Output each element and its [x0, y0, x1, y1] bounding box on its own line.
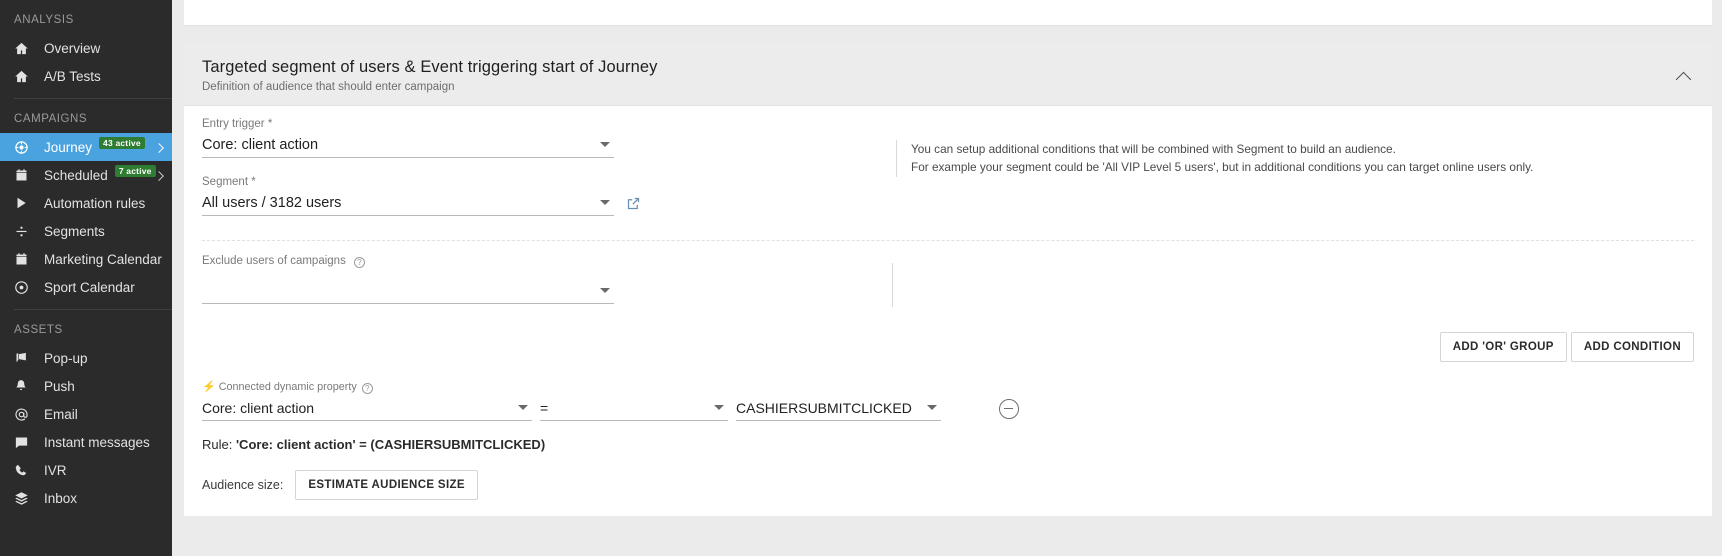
- home-icon: [14, 69, 34, 84]
- entry-trigger-value: Core: client action: [202, 137, 318, 153]
- helper-line-1: You can setup additional conditions that…: [911, 140, 1694, 158]
- card-gap: [184, 26, 1712, 44]
- chevron-down-icon: [600, 288, 610, 293]
- condition-row: ⚡ Connected dynamic property ? Core: cli…: [202, 362, 1694, 421]
- sidebar-item-sport-calendar[interactable]: Sport Calendar: [0, 273, 172, 301]
- add-condition-button[interactable]: ADD CONDITION: [1571, 332, 1694, 362]
- exclude-campaigns-label-text: Exclude users of campaigns: [202, 255, 346, 267]
- help-circle-icon[interactable]: ?: [354, 257, 365, 268]
- segment-label: Segment *: [202, 176, 614, 188]
- sidebar: ANALYSIS Overview A/B Tests CAMPAIGNS Jo…: [0, 0, 172, 556]
- sidebar-item-ab-tests[interactable]: A/B Tests: [0, 62, 172, 90]
- condition-operator-select[interactable]: =: [540, 396, 728, 421]
- entry-trigger-select[interactable]: Core: client action: [202, 133, 614, 158]
- card-subtitle: Definition of audience that should enter…: [202, 81, 1694, 93]
- help-circle-icon[interactable]: ?: [362, 383, 373, 394]
- sms-bubble-icon: [14, 435, 34, 450]
- segment-value: All users / 3182 users: [202, 195, 341, 211]
- sidebar-item-label: Marketing Calendar: [44, 252, 162, 267]
- chevron-down-icon: [600, 142, 610, 147]
- exclude-campaigns-label: Exclude users of campaigns ?: [202, 255, 614, 267]
- condition-property-label: ⚡ Connected dynamic property ?: [202, 380, 532, 394]
- sidebar-item-label: Overview: [44, 41, 100, 56]
- exclude-right-rule: [892, 263, 1694, 307]
- megaphone-icon: [14, 351, 34, 366]
- sidebar-group-title-campaigns: CAMPAIGNS: [0, 105, 172, 133]
- add-or-group-button[interactable]: ADD 'OR' GROUP: [1440, 332, 1567, 362]
- sidebar-divider: [14, 98, 172, 99]
- exclude-campaigns-select[interactable]: [202, 279, 614, 304]
- play-icon: [14, 196, 34, 210]
- sidebar-badge-scheduled: 7 active: [115, 165, 156, 178]
- chevron-down-icon: [714, 405, 724, 410]
- previous-card-bottom: [184, 0, 1712, 26]
- sidebar-item-automation-rules[interactable]: Automation rules: [0, 189, 172, 217]
- layers-icon: [14, 491, 34, 506]
- at-sign-icon: [14, 407, 34, 422]
- segment-select[interactable]: All users / 3182 users: [202, 191, 614, 216]
- estimate-audience-size-button[interactable]: ESTIMATE AUDIENCE SIZE: [295, 470, 478, 500]
- calendar-icon: [14, 168, 34, 183]
- helper-line-2: For example your segment could be 'All V…: [911, 158, 1694, 176]
- rule-text: 'Core: client action' = (CASHIERSUBMITCL…: [236, 437, 545, 452]
- condition-property-select[interactable]: Core: client action: [202, 396, 532, 421]
- card-header: Targeted segment of users & Event trigge…: [184, 44, 1712, 106]
- condition-property-label-text: Connected dynamic property: [219, 381, 357, 393]
- soccer-ball-icon: [14, 280, 34, 295]
- sidebar-item-scheduled[interactable]: Scheduled 7 active: [0, 161, 172, 189]
- calendar-icon: [14, 252, 34, 267]
- exclude-block: Exclude users of campaigns ?: [202, 241, 1694, 310]
- helper-text-block: You can setup additional conditions that…: [902, 106, 1694, 222]
- sidebar-item-inbox[interactable]: Inbox: [0, 484, 172, 512]
- condition-target-value: CASHIERSUBMITCLICKED: [736, 400, 912, 416]
- condition-property-value: Core: client action: [202, 400, 314, 416]
- condition-operator-value: =: [540, 400, 548, 416]
- sidebar-item-label: A/B Tests: [44, 69, 101, 84]
- condition-property-field: ⚡ Connected dynamic property ? Core: cli…: [202, 380, 532, 421]
- home-icon: [14, 41, 34, 56]
- sidebar-item-push[interactable]: Push: [0, 372, 172, 400]
- condition-target-select[interactable]: CASHIERSUBMITCLICKED: [736, 396, 941, 421]
- entry-trigger-field: Entry trigger * Core: client action: [202, 118, 614, 158]
- sidebar-item-label: Pop-up: [44, 351, 88, 366]
- audience-size-label: Audience size:: [202, 478, 283, 492]
- chevron-down-icon: [518, 405, 528, 410]
- page-title: Targeted segment of users & Event trigge…: [202, 58, 1694, 77]
- chevron-up-icon[interactable]: [1676, 70, 1694, 88]
- targeted-segment-card: Targeted segment of users & Event trigge…: [184, 44, 1712, 516]
- bell-icon: [14, 379, 34, 393]
- sidebar-item-label: IVR: [44, 463, 67, 478]
- card-body: Entry trigger * Core: client action Segm…: [184, 106, 1712, 516]
- sidebar-item-label: Push: [44, 379, 75, 394]
- journey-icon: [14, 140, 34, 155]
- chevron-down-icon: [927, 405, 937, 410]
- audience-size-row: Audience size: ESTIMATE AUDIENCE SIZE: [202, 452, 1694, 516]
- fields-left-column: Entry trigger * Core: client action Segm…: [202, 106, 902, 222]
- external-link-icon[interactable]: [626, 196, 641, 211]
- exclude-left-column: Exclude users of campaigns ?: [202, 255, 902, 310]
- sidebar-group-title-assets: ASSETS: [0, 316, 172, 344]
- exclude-campaigns-field: Exclude users of campaigns ?: [202, 255, 614, 304]
- divide-icon: [14, 224, 34, 239]
- condition-target-field: CASHIERSUBMITCLICKED: [736, 396, 941, 421]
- sidebar-item-label: Journey: [44, 140, 92, 155]
- condition-operator-field: =: [540, 396, 728, 421]
- sidebar-item-label: Scheduled: [44, 168, 108, 183]
- sidebar-item-journey[interactable]: Journey 43 active: [0, 133, 172, 161]
- sidebar-item-marketing-calendar[interactable]: Marketing Calendar: [0, 245, 172, 273]
- main-content: Targeted segment of users & Event trigge…: [172, 0, 1722, 556]
- bolt-icon: ⚡: [202, 382, 216, 393]
- rule-summary: Rule: 'Core: client action' = (CASHIERSU…: [202, 421, 1694, 452]
- app-root: ANALYSIS Overview A/B Tests CAMPAIGNS Jo…: [0, 0, 1722, 556]
- entry-trigger-label: Entry trigger *: [202, 118, 614, 130]
- chevron-down-icon: [600, 200, 610, 205]
- fields-row: Entry trigger * Core: client action Segm…: [202, 106, 1694, 222]
- minus-circle-icon[interactable]: [999, 399, 1019, 419]
- sidebar-item-label: Automation rules: [44, 196, 145, 211]
- sidebar-group-title-analysis: ANALYSIS: [0, 6, 172, 34]
- sidebar-item-email[interactable]: Email: [0, 400, 172, 428]
- helper-text: You can setup additional conditions that…: [896, 140, 1694, 177]
- sidebar-item-label: Inbox: [44, 491, 77, 506]
- sidebar-item-label: Sport Calendar: [44, 280, 135, 295]
- chevron-right-icon[interactable]: [154, 143, 164, 153]
- sidebar-item-label: Instant messages: [44, 435, 150, 450]
- condition-buttons-row: ADD 'OR' GROUP ADD CONDITION: [202, 310, 1694, 362]
- sidebar-badge-journey: 43 active: [99, 137, 145, 150]
- phone-icon: [14, 463, 34, 477]
- sidebar-divider: [14, 309, 172, 310]
- segment-field: Segment * All users / 3182 users: [202, 176, 614, 216]
- rule-prefix: Rule:: [202, 437, 236, 452]
- sidebar-item-pop-up[interactable]: Pop-up: [0, 344, 172, 372]
- sidebar-item-overview[interactable]: Overview: [0, 34, 172, 62]
- sidebar-item-segments[interactable]: Segments: [0, 217, 172, 245]
- sidebar-item-label: Email: [44, 407, 78, 422]
- sidebar-item-instant-messages[interactable]: Instant messages: [0, 428, 172, 456]
- sidebar-item-ivr[interactable]: IVR: [0, 456, 172, 484]
- sidebar-item-label: Segments: [44, 224, 105, 239]
